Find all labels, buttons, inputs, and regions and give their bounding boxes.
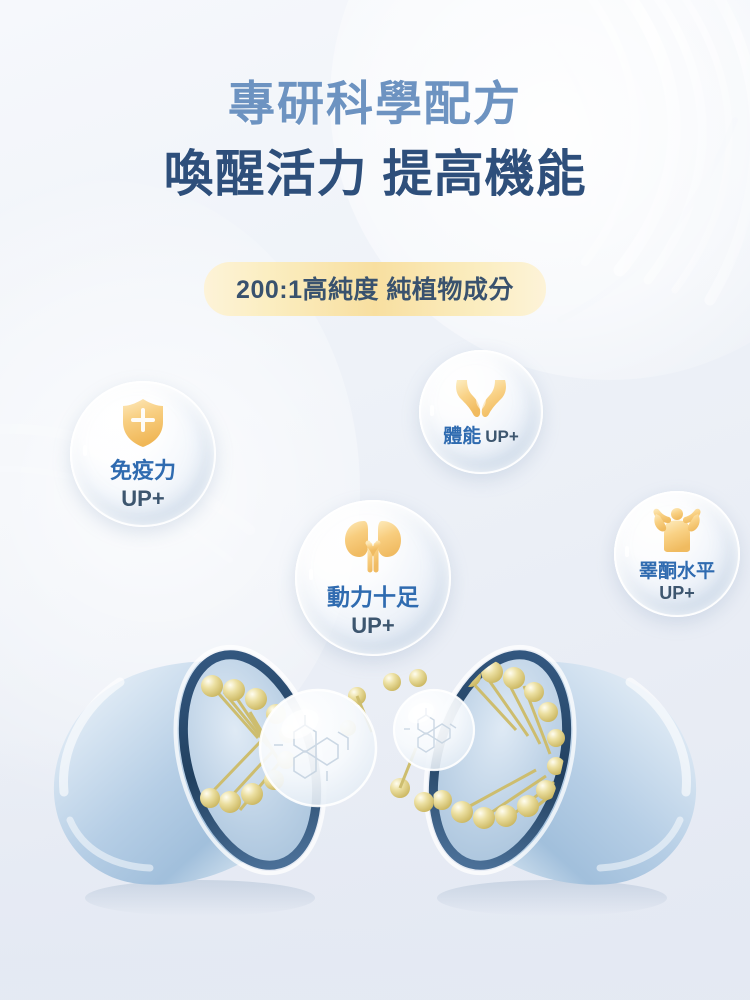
bubble-immunity-text: 免疫力 UP+ <box>110 449 176 512</box>
badge-row: 200:1高純度 純植物成分 <box>0 262 750 316</box>
bubble-testosterone-text: 睪酮水平 UP+ <box>639 553 715 604</box>
bubble-stamina-text: 體能 UP+ <box>443 421 519 448</box>
molecule-sphere-small <box>394 690 474 770</box>
split-capsule-illustration <box>0 620 750 930</box>
headline-block: 專研科學配方 喚醒活力 提高機能 <box>0 76 750 204</box>
bubble-testosterone-label: 睪酮水平 <box>639 556 715 583</box>
kidneys-icon <box>342 517 404 573</box>
benefit-bubble-immunity[interactable]: 免疫力 UP+ <box>70 381 216 527</box>
molecule-sphere-large <box>260 690 376 806</box>
capsule-shadow-right <box>437 880 667 916</box>
bubble-immunity-label: 免疫力 <box>110 453 176 485</box>
product-banner: 專研科學配方 喚醒活力 提高機能 200:1高純度 純植物成分 免疫力 <box>0 0 750 1000</box>
bubble-vitality-text: 動力十足 UP+ <box>327 573 419 639</box>
capsule-shadow-left <box>85 880 315 916</box>
benefit-bubble-stamina[interactable]: 體能 UP+ <box>419 350 543 474</box>
benefit-bubble-testosterone[interactable]: 睪酮水平 UP+ <box>614 491 740 617</box>
headline-line-1: 專研科學配方 <box>0 76 750 131</box>
bubble-vitality-label: 動力十足 <box>327 578 419 612</box>
purity-badge: 200:1高純度 純植物成分 <box>204 262 546 316</box>
headline-line-2: 喚醒活力 提高機能 <box>0 145 750 204</box>
flexing-arm-icon <box>453 377 509 419</box>
shield-plus-icon <box>119 397 167 449</box>
bubble-immunity-suffix: UP+ <box>110 486 176 512</box>
bubble-vitality-suffix: UP+ <box>327 613 419 639</box>
bubble-stamina-label: 體能 <box>443 421 481 448</box>
bubble-testosterone-suffix: UP+ <box>639 583 715 604</box>
bubble-stamina-suffix: UP+ <box>485 427 519 447</box>
muscular-torso-icon <box>650 505 704 553</box>
